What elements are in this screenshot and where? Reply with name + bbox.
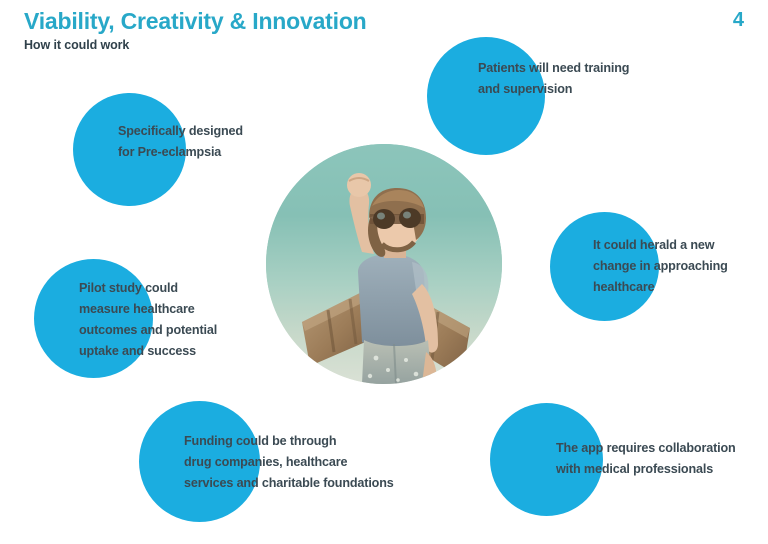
slide-canvas: Viability, Creativity & Innovation How i…	[0, 0, 768, 544]
bubble-label-app-collaboration: The app requires collaboration with medi…	[556, 438, 768, 480]
page-subtitle: How it could work	[24, 38, 129, 52]
bubble-label-new-change-healthcare: It could herald a new change in approach…	[593, 235, 768, 298]
child-with-cardboard-wings-photo	[266, 144, 502, 384]
bubble-label-funding-sources: Funding could be through drug companies,…	[184, 431, 474, 494]
page-number: 4	[733, 9, 744, 32]
bubble-label-patients-training: Patients will need training and supervis…	[478, 58, 728, 100]
bubble-label-pre-eclampsia-design: Specifically designed for Pre-eclampsia	[118, 121, 338, 163]
bubble-label-pilot-study: Pilot study could measure healthcare out…	[79, 278, 289, 362]
page-title: Viability, Creativity & Innovation	[24, 8, 367, 35]
